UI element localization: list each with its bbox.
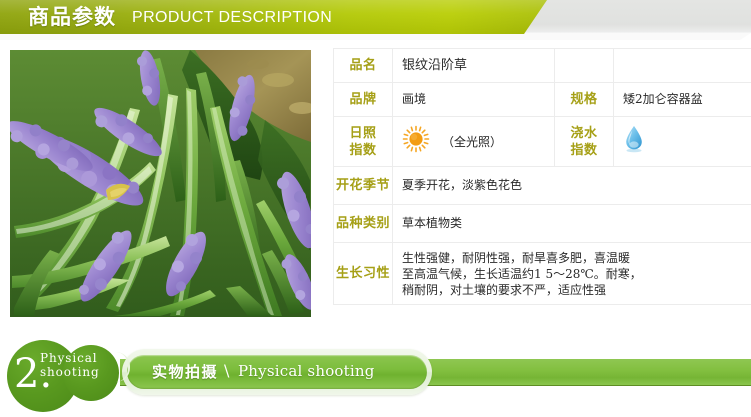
spec-label-growth-habit: 生长习性 — [334, 243, 393, 305]
spec-label-sunlight-line2: 指数 — [334, 142, 392, 159]
banner-title-cn: 实物拍摄 — [152, 362, 218, 382]
spec-label-bloom-season: 开花季节 — [334, 167, 393, 205]
page-title-en: PRODUCT DESCRIPTION — [132, 7, 332, 29]
spec-label-watering-line2: 指数 — [555, 142, 613, 159]
sun-icon — [402, 125, 430, 158]
table-row: 开花季节 夏季开花，淡紫色花色 — [334, 167, 751, 205]
spec-value-watering-index — [614, 117, 751, 167]
product-photo-illustration — [10, 50, 311, 317]
spec-value-variety-category: 草本植物类 — [393, 205, 751, 243]
spec-value-specification: 矮2加仑容器盆 — [614, 83, 751, 117]
table-row: 生长习性 生性强健，耐阴性强，耐旱喜多肥，喜温暖 至高温气候，生长适温约1 5～… — [334, 243, 751, 305]
spec-label-specification: 规格 — [555, 83, 614, 117]
growth-habit-line3: 稍耐阴，对土壤的要求不严，适应性强 — [402, 282, 751, 298]
table-row: 日照 指数 — [334, 117, 751, 167]
spec-value-sunlight-index: （全光照） — [393, 117, 555, 167]
banner-title-en: Physical shooting — [238, 361, 375, 381]
section-badge-en-line2: shooting — [40, 365, 100, 380]
spec-label-variety-category: 品种类别 — [334, 205, 393, 243]
spec-value-product-name: 银纹沿阶草 — [393, 49, 555, 83]
spec-label-watering-line1: 浇水 — [555, 125, 613, 142]
growth-habit-line2: 至高温气候，生长适温约1 5～28℃。耐寒， — [402, 266, 751, 282]
spec-label-sunlight-line1: 日照 — [334, 125, 392, 142]
table-row: 品牌 画境 规格 矮2加仑容器盆 — [334, 83, 751, 117]
spec-label-empty-1 — [555, 49, 614, 83]
growth-habit-line1: 生性强健，耐阴性强，耐旱喜多肥，喜温暖 — [402, 250, 751, 266]
spec-value-sunlight-text: （全光照） — [442, 133, 502, 150]
specification-table: 品名 银纹沿阶草 品牌 画境 规格 矮2加仑容器盆 日照 指数 — [333, 48, 751, 305]
banner-title-separator: \ — [224, 361, 229, 381]
page-title-cn: 商品参数 — [28, 2, 116, 32]
spec-label-brand: 品牌 — [334, 83, 393, 117]
section-badge-en-line1: Physical — [40, 351, 98, 366]
sunlight-cell-content: （全光照） — [393, 125, 554, 158]
header-banner: 商品参数 PRODUCT DESCRIPTION — [0, 0, 751, 41]
table-row: 品名 银纹沿阶草 — [334, 49, 751, 83]
spec-value-empty-1 — [614, 49, 751, 83]
product-photo — [10, 50, 311, 317]
watering-cell-content — [614, 124, 751, 159]
spec-label-sunlight-index: 日照 指数 — [334, 117, 393, 167]
spec-label-product-name: 品名 — [334, 49, 393, 83]
water-drop-icon — [623, 124, 645, 159]
spec-label-watering-index: 浇水 指数 — [555, 117, 614, 167]
table-row: 品种类别 草本植物类 — [334, 205, 751, 243]
spec-value-bloom-season: 夏季开花，淡紫色花色 — [393, 167, 751, 205]
spec-value-brand: 画境 — [393, 83, 555, 117]
spec-value-growth-habit: 生性强健，耐阴性强，耐旱喜多肥，喜温暖 至高温气候，生长适温约1 5～28℃。耐… — [393, 243, 751, 305]
